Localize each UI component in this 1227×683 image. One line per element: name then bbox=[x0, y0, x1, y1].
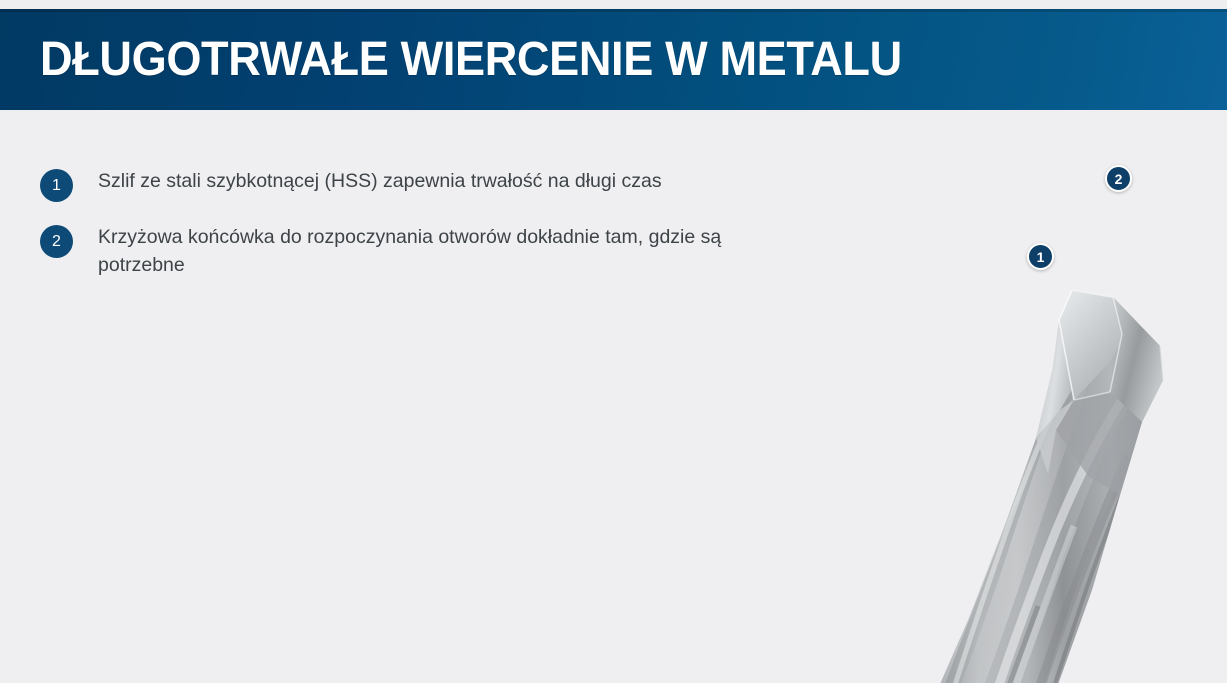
callout-marker-1[interactable]: 1 bbox=[1027, 243, 1054, 270]
list-item: 2 Krzyżowa końcówka do rozpoczynania otw… bbox=[40, 224, 800, 279]
callout-marker-2[interactable]: 2 bbox=[1105, 165, 1132, 192]
feature-badge-1: 1 bbox=[40, 169, 73, 202]
header-banner: DŁUGOTRWAŁE WIERCENIE W METALU bbox=[0, 9, 1227, 110]
feature-badge-2: 2 bbox=[40, 225, 73, 258]
list-item: 1 Szlif ze stali szybkotnącej (HSS) zape… bbox=[40, 168, 800, 202]
page-title: DŁUGOTRWAŁE WIERCENIE W METALU bbox=[40, 36, 902, 84]
content-area: 1 Szlif ze stali szybkotnącej (HSS) zape… bbox=[0, 110, 1227, 683]
feature-list: 1 Szlif ze stali szybkotnącej (HSS) zape… bbox=[40, 168, 800, 301]
product-image-drill-bit bbox=[860, 260, 1227, 683]
feature-text-2: Krzyżowa końcówka do rozpoczynania otwor… bbox=[98, 224, 798, 279]
top-strip bbox=[0, 0, 1227, 9]
feature-text-1: Szlif ze stali szybkotnącej (HSS) zapewn… bbox=[98, 168, 662, 196]
product-feature-banner: DŁUGOTRWAŁE WIERCENIE W METALU 1 Szlif z… bbox=[0, 0, 1227, 683]
